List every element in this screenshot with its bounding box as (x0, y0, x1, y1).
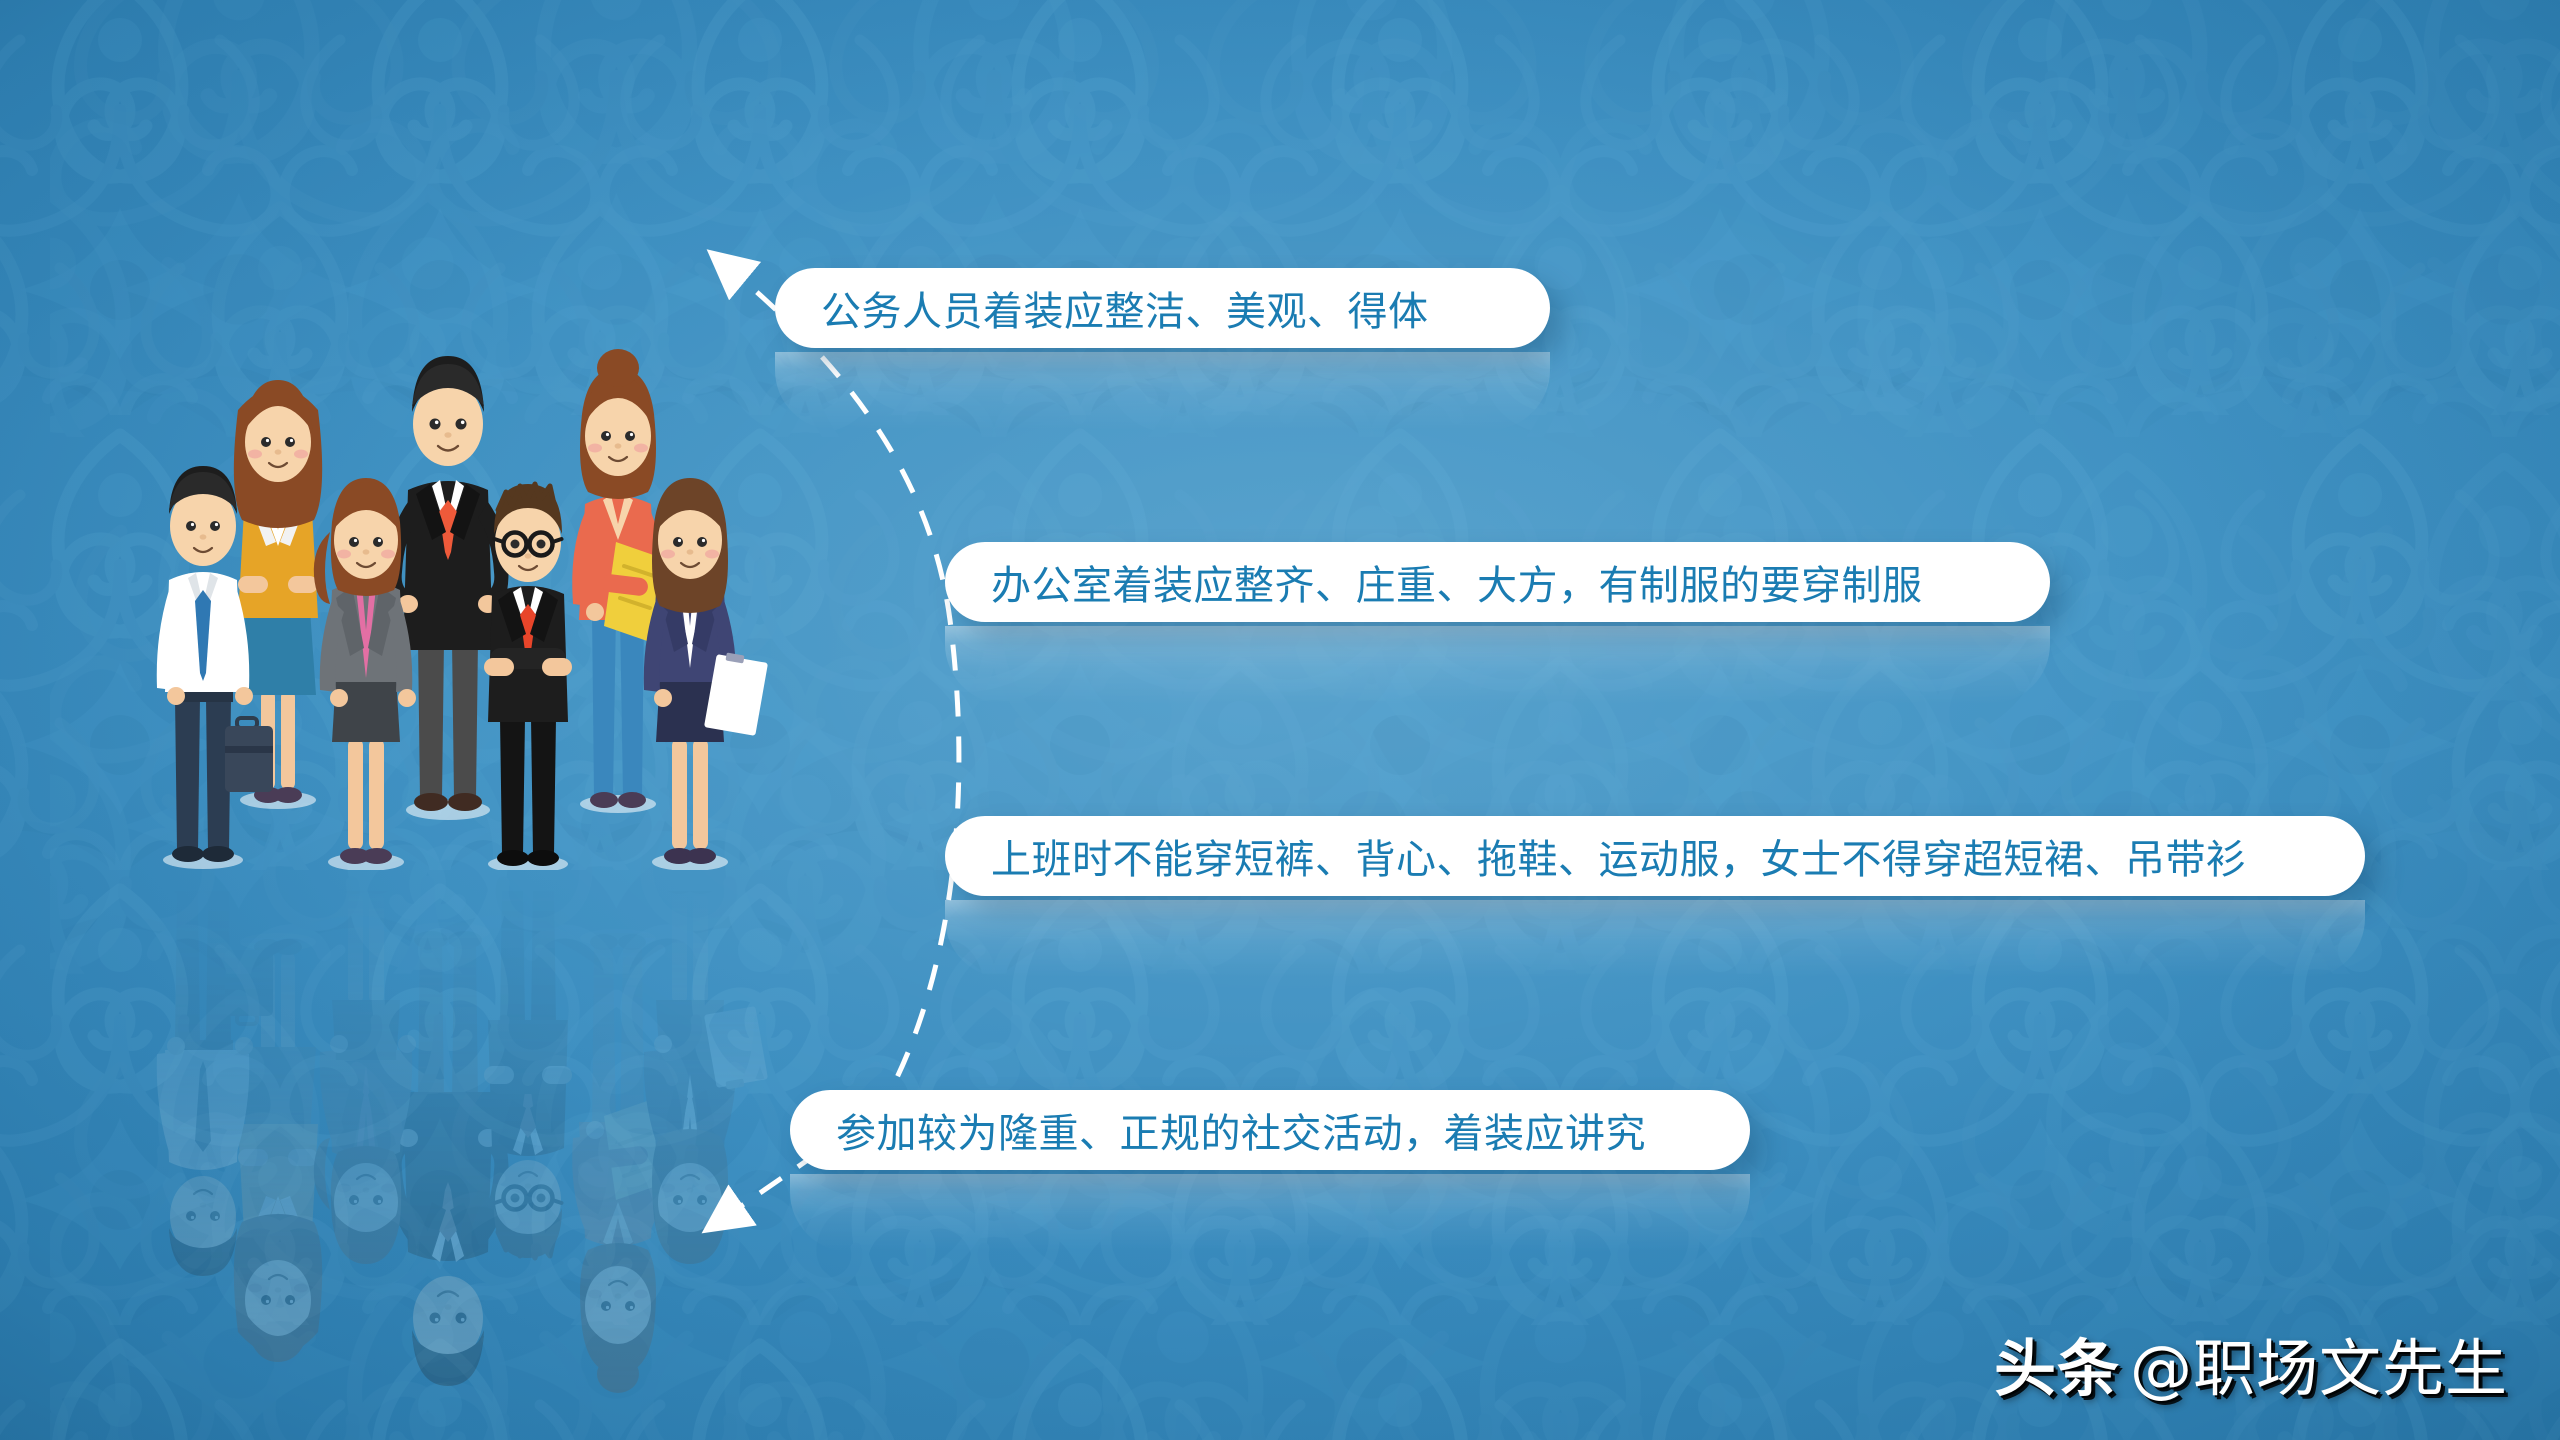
bullet-pill-3[interactable]: 上班时不能穿短裤、背心、拖鞋、运动服，女士不得穿超短裙、吊带衫 (945, 816, 2365, 896)
bullet-pill-2-label: 办公室着装应整齐、庄重、大方，有制服的要穿制服 (991, 553, 1923, 611)
bullet-pill-1[interactable]: 公务人员着装应整洁、美观、得体 (775, 268, 1550, 348)
pill-reflection-4 (790, 1174, 1750, 1252)
bullet-pill-1-label: 公务人员着装应整洁、美观、得体 (821, 279, 1429, 337)
bullet-pill-2[interactable]: 办公室着装应整齐、庄重、大方，有制服的要穿制服 (945, 542, 2050, 622)
bullet-pill-4-label: 参加较为隆重、正规的社交活动，着装应讲究 (836, 1101, 1646, 1159)
watermark-handle: @职场文先生 (2130, 1318, 2508, 1408)
bullet-pill-4[interactable]: 参加较为隆重、正规的社交活动，着装应讲究 (790, 1090, 1750, 1170)
business-people-illustration (118, 340, 818, 870)
pill-reflection-3 (945, 900, 2365, 978)
slide-canvas: 公务人员着装应整洁、美观、得体 办公室着装应整齐、庄重、大方，有制服的要穿制服 … (0, 0, 2560, 1440)
people-reflection (118, 872, 818, 1402)
pill-reflection-1 (775, 352, 1550, 430)
bullet-pill-3-label: 上班时不能穿短裤、背心、拖鞋、运动服，女士不得穿超短裙、吊带衫 (991, 827, 2247, 885)
pill-reflection-2 (945, 626, 2050, 704)
watermark: 头条 @职场文先生 (1994, 1318, 2508, 1408)
watermark-brand: 头条 (1994, 1318, 2120, 1408)
